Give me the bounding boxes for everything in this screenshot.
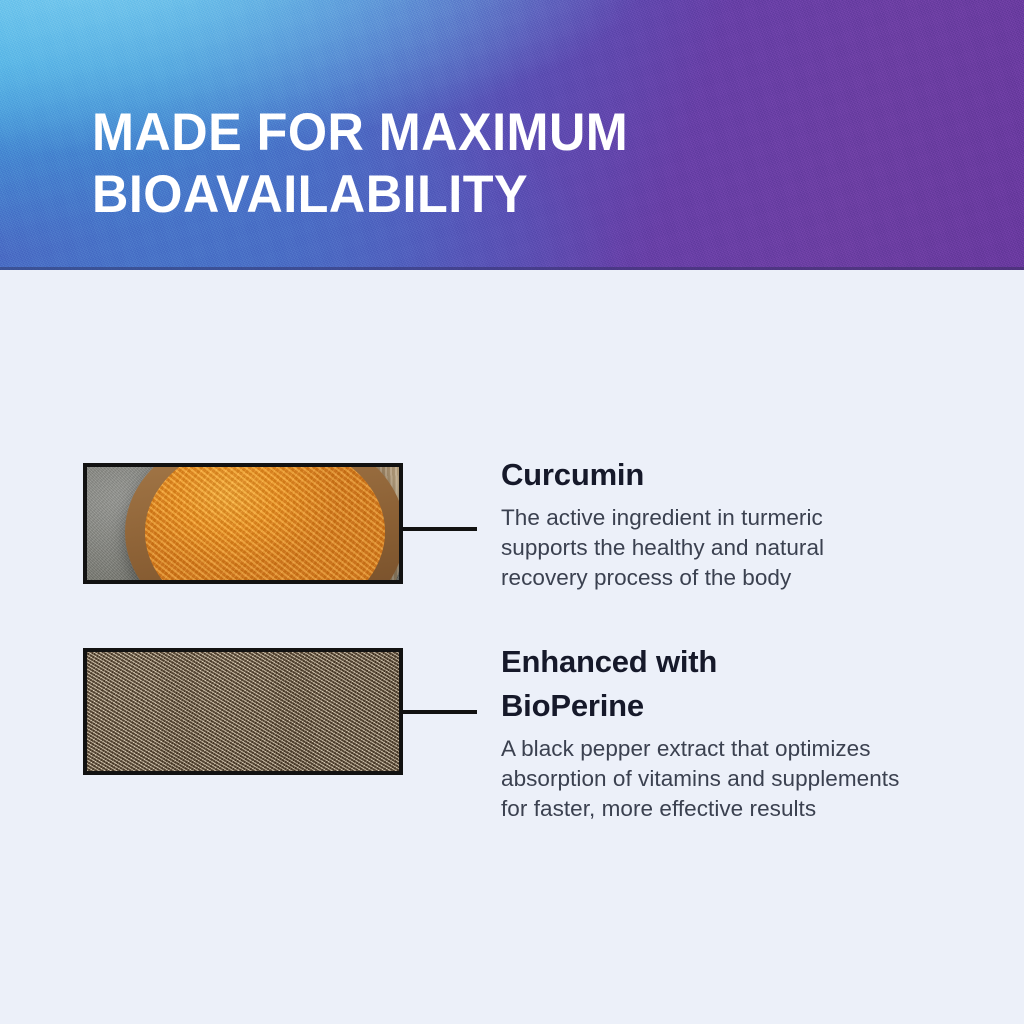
page-title: Made for Maximum Bioavailability [92,102,814,226]
header-banner: Made for Maximum Bioavailability [0,0,1024,270]
callout-connector-line [403,527,477,531]
feature-text-curcumin: Curcumin The active ingredient in turmer… [501,453,1021,593]
feature-title: Enhanced with BioPerine [501,640,1021,728]
turmeric-photo-content [87,467,399,580]
wooden-bowl [125,463,403,584]
infographic-page: Made for Maximum Bioavailability Curcumi… [0,0,1024,1024]
crushed-black-pepper-photo [83,648,403,775]
feature-description: A black pepper extract that optimizes ab… [501,734,1021,824]
turmeric-powder-bowl-photo [83,463,403,584]
feature-title: Curcumin [501,453,1021,497]
feature-text-bioperine: Enhanced with BioPerine A black pepper e… [501,640,1021,824]
turmeric-powder [145,463,385,584]
callout-connector-line [403,710,477,714]
feature-description: The active ingredient in turmeric suppor… [501,503,1021,593]
features-section: Curcumin The active ingredient in turmer… [0,270,1024,1024]
pepper-photo-content [87,652,399,771]
pepper-granules [87,652,399,771]
